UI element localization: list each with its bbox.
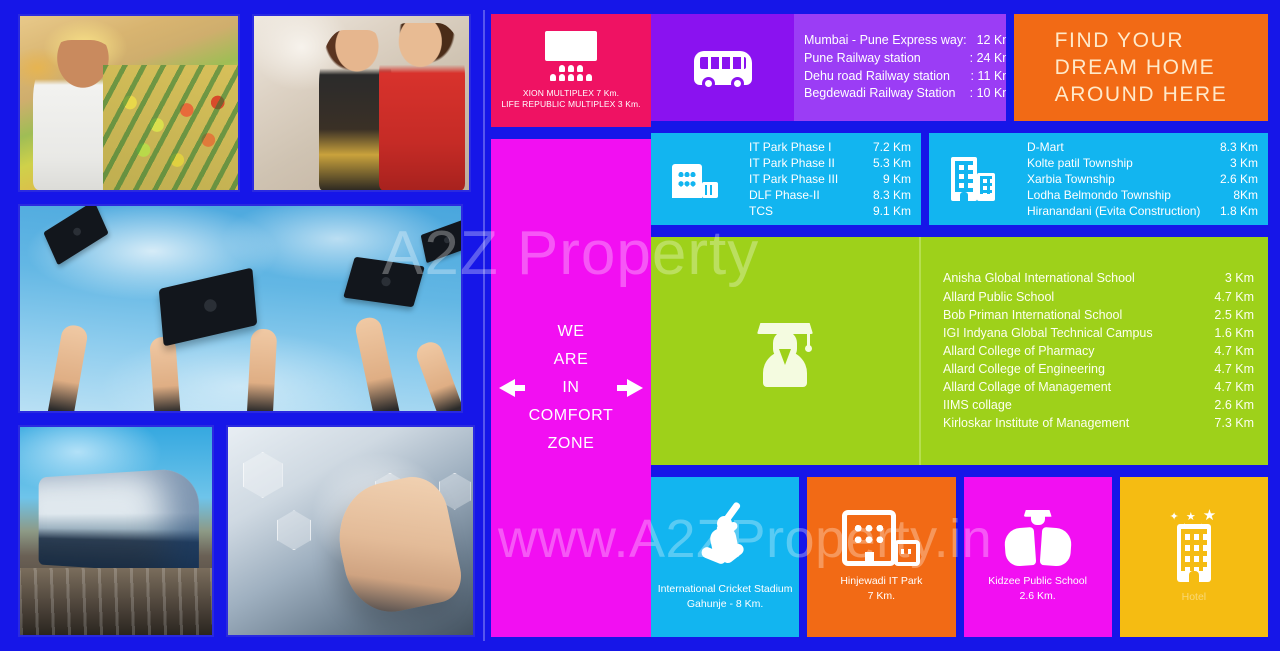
list-item: Lodha Belmondo Township 8Km [1027, 187, 1258, 203]
train-photo [18, 425, 214, 637]
education-label-1: Allard Public School [943, 288, 1054, 306]
township-label-2: Xarbia Township [1027, 171, 1115, 187]
township-label-4: Hiranandani (Evita Construction) [1027, 203, 1200, 219]
it-park-label-4: TCS [749, 203, 773, 219]
transit-value-0: 12 Km [977, 32, 1006, 50]
education-label-7: IIMS collage [943, 396, 1012, 414]
comfort-line-2: ARE [529, 346, 614, 374]
list-item: Dehu road Railway station : 11 Km [804, 68, 1006, 86]
education-label-5: Allard College of Engineering [943, 360, 1105, 378]
kidzee-school-tile: Kidzee Public School 2.6 Km. [964, 477, 1112, 637]
education-label-4: Allard College of Pharmacy [943, 342, 1094, 360]
office-building-icon [672, 160, 718, 198]
mortarboard-cap [41, 205, 110, 262]
list-item: Pune Railway station : 24 Km [804, 50, 1006, 68]
list-item: Allard Public School 4.7 Km [943, 288, 1254, 306]
mortarboard-cap [345, 252, 424, 312]
hotel-building-icon: ✦ ★ ★ ★ ✦ [1163, 508, 1225, 582]
township-value-0: 8.3 Km [1220, 139, 1258, 155]
towers-icon-area [929, 133, 1017, 225]
list-item: Anisha Global International School 3 Km [943, 269, 1254, 287]
list-item: D-Mart 8.3 Km [1027, 139, 1258, 155]
list-item: Mumbai - Pune Express way: 12 Km [804, 32, 1006, 50]
it-park-label-0: IT Park Phase I [749, 139, 831, 155]
education-value-1: 4.7 Km [1214, 288, 1254, 306]
township-value-2: 2.6 Km [1220, 171, 1258, 187]
list-item: Allard College of Pharmacy 4.7 Km [943, 342, 1254, 360]
list-item: TCS 9.1 Km [749, 203, 911, 219]
hotel-line-1: Hotel [1182, 590, 1207, 605]
graduation-photo [18, 204, 463, 413]
transit-list-area: Mumbai - Pune Express way: 12 Km Pune Ra… [794, 14, 1006, 121]
township-label-3: Lodha Belmondo Township [1027, 187, 1171, 203]
it-park-value-3: 8.3 Km [873, 187, 911, 203]
transit-label-0: Mumbai - Pune Express way: [804, 32, 967, 50]
it-park-list-area: IT Park Phase I 7.2 Km IT Park Phase II … [739, 133, 921, 225]
education-label-8: Kirloskar Institute of Management [943, 414, 1129, 432]
list-item: Kirloskar Institute of Management 7.3 Km [943, 414, 1254, 432]
list-item: IT Park Phase II 5.3 Km [749, 155, 911, 171]
list-item: Allard College of Engineering 4.7 Km [943, 360, 1254, 378]
office-icon-area [651, 133, 739, 225]
locality-advantages-board: XION MULTIPLEX 7 Km. LIFE REPUBLIC MULTI… [0, 0, 1280, 651]
list-item: Bob Priman International School 2.5 Km [943, 306, 1254, 324]
list-item: IT Park Phase III 9 Km [749, 171, 911, 187]
hinjewadi-it-park-label: Hinjewadi IT Park 7 Km. [840, 574, 922, 604]
cinema-seats-icon [550, 65, 592, 81]
hotel-tile: ✦ ★ ★ ★ ✦ Hotel [1120, 477, 1268, 637]
list-item: Allard Collage of Management 4.7 Km [943, 378, 1254, 396]
list-item: IT Park Phase I 7.2 Km [749, 139, 911, 155]
education-value-5: 4.7 Km [1214, 360, 1254, 378]
cricket-batsman-icon [695, 502, 755, 574]
residential-towers-icon [949, 157, 997, 201]
township-list-area: D-Mart 8.3 Km Kolte patil Township 3 Km … [1017, 133, 1268, 225]
transit-panel: Mumbai - Pune Express way: 12 Km Pune Ra… [651, 14, 1006, 121]
it-park-label-1: IT Park Phase II [749, 155, 835, 171]
open-book-graduation-icon [1005, 510, 1071, 566]
headline-line-1: FIND YOUR [1055, 27, 1228, 54]
comfort-zone-text: WE ARE IN COMFORT ZONE [529, 318, 614, 458]
transit-label-1: Pune Railway station [804, 50, 921, 68]
info-row-landmarks: International Cricket Stadium Gahunje - … [651, 477, 1268, 637]
mall-shopping-photo [252, 14, 471, 192]
transit-list: Mumbai - Pune Express way: 12 Km Pune Ra… [804, 32, 1006, 103]
multiplex-line-2: LIFE REPUBLIC MULTIPLEX 3 Km. [501, 99, 640, 110]
transit-value-1: : 24 Km [970, 50, 1006, 68]
hinjewadi-it-park-line-1: Hinjewadi IT Park [840, 574, 922, 589]
township-value-1: 3 Km [1230, 155, 1258, 171]
info-row-education: Anisha Global International School 3 Km … [651, 237, 1268, 465]
mortarboard-cap [420, 222, 463, 260]
education-list-area: Anisha Global International School 3 Km … [921, 237, 1268, 465]
education-panel: Anisha Global International School 3 Km … [651, 237, 1268, 465]
cricket-stadium-label: International Cricket Stadium Gahunje - … [658, 582, 793, 612]
it-park-building-icon [842, 510, 920, 566]
township-value-3: 8Km [1233, 187, 1258, 203]
education-value-2: 2.5 Km [1214, 306, 1254, 324]
info-row-business: IT Park Phase I 7.2 Km IT Park Phase II … [651, 133, 1268, 225]
comfort-zone-panel: WE ARE IN COMFORT ZONE [491, 139, 651, 637]
list-item: Kolte patil Township 3 Km [1027, 155, 1258, 171]
it-park-value-0: 7.2 Km [873, 139, 911, 155]
township-label-0: D-Mart [1027, 139, 1064, 155]
it-park-value-1: 5.3 Km [873, 155, 911, 171]
education-label-6: Allard Collage of Management [943, 378, 1111, 396]
vertical-divider [477, 0, 491, 651]
it-park-label-3: DLF Phase-II [749, 187, 820, 203]
it-park-panel: IT Park Phase I 7.2 Km IT Park Phase II … [651, 133, 921, 225]
photo-gallery [0, 0, 477, 651]
headline-panel: FIND YOUR DREAM HOME AROUND HERE [1014, 14, 1268, 121]
township-list: D-Mart 8.3 Km Kolte patil Township 3 Km … [1027, 139, 1258, 219]
cricket-stadium-tile: International Cricket Stadium Gahunje - … [651, 477, 799, 637]
technology-photo [226, 425, 475, 637]
education-value-3: 1.6 Km [1214, 324, 1254, 342]
list-item: Begdewadi Railway Station : 10 Km [804, 85, 1006, 103]
headline-text: FIND YOUR DREAM HOME AROUND HERE [1055, 27, 1228, 109]
multiplex-panel: XION MULTIPLEX 7 Km. LIFE REPUBLIC MULTI… [491, 14, 651, 127]
photo-row-top [18, 14, 477, 192]
education-list: Anisha Global International School 3 Km … [943, 269, 1254, 432]
mortarboard-cap [158, 274, 258, 340]
info-grid: Mumbai - Pune Express way: 12 Km Pune Ra… [651, 0, 1280, 651]
middle-strip: XION MULTIPLEX 7 Km. LIFE REPUBLIC MULTI… [491, 0, 651, 651]
comfort-line-4: COMFORT [529, 402, 614, 430]
photo-row-bottom [18, 425, 477, 637]
info-row-transit: Mumbai - Pune Express way: 12 Km Pune Ra… [651, 14, 1268, 121]
it-park-list: IT Park Phase I 7.2 Km IT Park Phase II … [749, 139, 911, 219]
arrow-right-icon [627, 379, 643, 397]
raised-arm [47, 323, 89, 413]
list-item: IIMS collage 2.6 Km [943, 396, 1254, 414]
headline-line-3: AROUND HERE [1055, 81, 1228, 108]
it-park-value-4: 9.1 Km [873, 203, 911, 219]
hinjewadi-it-park-line-2: 7 Km. [840, 589, 922, 604]
raised-arm [247, 328, 278, 413]
transit-value-3: : 10 Km [970, 85, 1006, 103]
graduate-icon [750, 315, 820, 387]
hinjewadi-it-park-tile: Hinjewadi IT Park 7 Km. [807, 477, 955, 637]
education-value-6: 4.7 Km [1214, 378, 1254, 396]
education-value-8: 7.3 Km [1214, 414, 1254, 432]
bus-icon-area [651, 14, 794, 121]
raised-arm [149, 336, 181, 413]
comfort-line-1: WE [529, 318, 614, 346]
transit-label-3: Begdewadi Railway Station [804, 85, 955, 103]
multiplex-text: XION MULTIPLEX 7 Km. LIFE REPUBLIC MULTI… [501, 88, 640, 111]
kidzee-school-line-2: 2.6 Km. [988, 589, 1087, 604]
education-value-0: 3 Km [1225, 269, 1254, 287]
education-label-2: Bob Priman International School [943, 306, 1122, 324]
headline-line-2: DREAM HOME [1055, 54, 1228, 81]
list-item: IGI Indyana Global Technical Campus 1.6 … [943, 324, 1254, 342]
grocery-shopping-photo [18, 14, 240, 192]
arrow-left-icon [499, 379, 515, 397]
comfort-line-5: ZONE [529, 430, 614, 458]
raised-arm [354, 315, 401, 413]
kidzee-school-line-1: Kidzee Public School [988, 574, 1087, 589]
cricket-stadium-line-1: International Cricket Stadium [658, 582, 793, 597]
list-item: Hiranandani (Evita Construction) 1.8 Km [1027, 203, 1258, 219]
graduate-icon-area [651, 237, 921, 465]
comfort-line-3: IN [529, 374, 614, 402]
bus-icon [694, 51, 752, 85]
multiplex-line-1: XION MULTIPLEX 7 Km. [501, 88, 640, 99]
township-value-4: 1.8 Km [1220, 203, 1258, 219]
transit-value-2: : 11 Km [971, 68, 1006, 86]
cricket-stadium-line-2: Gahunje - 8 Km. [658, 597, 793, 612]
township-panel: D-Mart 8.3 Km Kolte patil Township 3 Km … [929, 133, 1268, 225]
hotel-label: Hotel [1182, 590, 1207, 605]
transit-label-2: Dehu road Railway station [804, 68, 950, 86]
list-item: Xarbia Township 2.6 Km [1027, 171, 1258, 187]
education-value-7: 2.6 Km [1214, 396, 1254, 414]
list-item: DLF Phase-II 8.3 Km [749, 187, 911, 203]
cinema-screen-icon [545, 31, 597, 61]
township-label-1: Kolte patil Township [1027, 155, 1133, 171]
it-park-label-2: IT Park Phase III [749, 171, 838, 187]
raised-arm [413, 339, 463, 413]
education-value-4: 4.7 Km [1214, 342, 1254, 360]
education-label-0: Anisha Global International School [943, 269, 1135, 287]
education-label-3: IGI Indyana Global Technical Campus [943, 324, 1153, 342]
it-park-value-2: 9 Km [883, 171, 911, 187]
kidzee-school-label: Kidzee Public School 2.6 Km. [988, 574, 1087, 604]
